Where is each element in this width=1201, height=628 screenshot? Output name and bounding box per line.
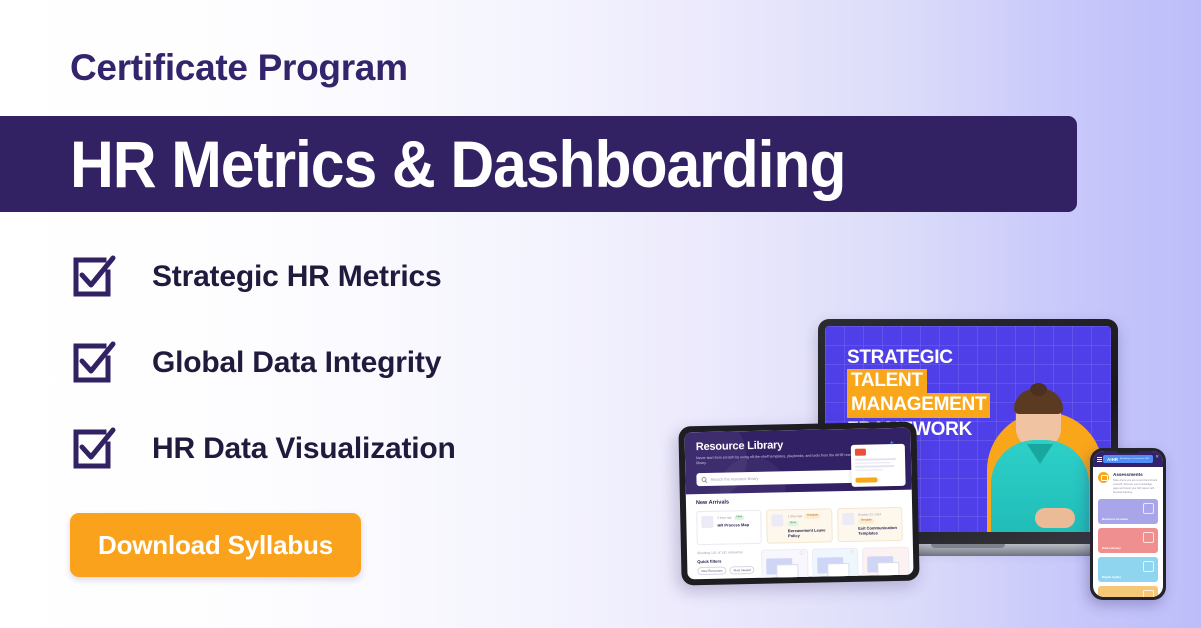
favorite-heart-icon[interactable]: ♡ <box>799 552 804 557</box>
domain-filter-heading: Filter by HR domain <box>698 578 762 580</box>
resource-card-list: 3 days ago New HR Process Map 1 days ago… <box>696 507 903 545</box>
search-icon <box>701 477 706 482</box>
document-thumbnail-icon <box>772 514 784 526</box>
card-timestamp: 1 days ago <box>788 514 803 518</box>
resource-card[interactable]: 1 days ago Template New Bereavement Leav… <box>766 508 832 544</box>
assessment-tile-digital-agility[interactable]: Digital Agility <box>1098 557 1158 582</box>
pdf-icon <box>855 449 866 456</box>
list-item: Strategic HR Metrics <box>70 253 590 301</box>
featured-resource-card[interactable] <box>851 444 906 487</box>
feature-list: Strategic HR Metrics Global Data Integri… <box>70 253 590 511</box>
tile-label: Data Literacy <box>1102 546 1121 550</box>
assessments-description: Take where you are at and benchmark your… <box>1113 479 1158 495</box>
quick-filters-heading: Quick filters <box>697 558 761 564</box>
tile-preview-strip <box>769 577 789 579</box>
download-syllabus-button[interactable]: Download Syllabus <box>70 513 361 577</box>
phone-mockup: AIHR Academy to Innovate HR ✕ Assessment… <box>1090 448 1166 600</box>
course-title-banner: HR Metrics & Dashboarding <box>0 116 1077 212</box>
list-item-label: Global Data Integrity <box>152 346 441 380</box>
result-count: Showing 141 of 141 resources <box>697 550 761 555</box>
presenter-hair-bun <box>1030 383 1047 396</box>
resource-tile[interactable]: ♡ <box>761 549 808 580</box>
status-badge: New <box>788 521 799 526</box>
people-icon <box>1143 590 1154 597</box>
slide-line-2: TALENT <box>847 369 927 393</box>
page-eyebrow-title: Certificate Program <box>70 47 408 89</box>
resource-card[interactable]: 3 days ago New HR Process Map <box>696 510 762 546</box>
document-thumbnail-icon <box>842 513 854 525</box>
laptop-hinge-notch <box>931 544 1005 548</box>
download-icon-button[interactable] <box>855 477 877 482</box>
card-title: HR Process Map <box>717 522 749 528</box>
resource-browse-area: Showing 141 of 141 resources Quick filte… <box>687 547 914 580</box>
tile-label: Digital Agility <box>1102 575 1121 579</box>
hamburger-menu-icon[interactable] <box>1097 457 1102 464</box>
section-heading: New Arrivals <box>696 496 902 506</box>
device-icon <box>1143 561 1154 572</box>
logo-subtext: Academy to Innovate HR <box>1120 458 1149 460</box>
resource-card[interactable]: October 23, 2024 Template Exit Communica… <box>837 507 903 543</box>
filter-chip-most-viewed[interactable]: Most Viewed <box>729 566 754 575</box>
tablet-screen: Resource Library Never start from scratc… <box>684 428 913 580</box>
type-badge: Template <box>804 513 820 518</box>
assessments-title: Assessments <box>1113 472 1158 477</box>
checkbox-checked-icon <box>70 254 118 300</box>
presenter-photo <box>961 326 1111 532</box>
tile-preview-front <box>878 562 900 576</box>
new-arrivals-section: New Arrivals 3 days ago New HR Process M… <box>686 489 913 545</box>
assessments-intro: Assessments Take where you are at and be… <box>1093 467 1163 499</box>
favorite-heart-icon[interactable]: ♡ <box>850 551 855 556</box>
resource-search-input[interactable]: Search the resource library <box>696 469 862 485</box>
status-badge: New <box>734 515 745 520</box>
list-item-label: HR Data Visualization <box>152 432 456 466</box>
page-title: HR Metrics & Dashboarding <box>70 131 845 197</box>
type-badge: Template <box>858 518 874 523</box>
text-placeholder-lines <box>855 458 901 471</box>
tile-label: Business Acumen <box>1102 517 1128 521</box>
device-mockup-cluster: STRATEGIC TALENT MANAGEMENT FRAMEWORK <box>660 300 1201 628</box>
assessment-tile-list: Business Acumen Data Literacy Digital Ag… <box>1093 499 1163 597</box>
resource-library-subtitle: Never start from scratch by using off-th… <box>696 453 866 467</box>
list-item-label: Strategic HR Metrics <box>152 260 441 294</box>
resource-library-hero: Resource Library Never start from scratc… <box>684 428 911 495</box>
search-placeholder: Search the resource library <box>710 476 758 482</box>
presenter-hands <box>1035 508 1075 528</box>
card-title: Bereavement Leave Policy <box>788 527 828 538</box>
checkbox-checked-icon <box>70 340 118 386</box>
tablet-mockup: Resource Library Never start from scratc… <box>678 422 919 586</box>
chart-screen-icon <box>1143 532 1154 543</box>
assessment-icon <box>1098 472 1109 483</box>
phone-screen: AIHR Academy to Innovate HR ✕ Assessment… <box>1093 451 1163 597</box>
filter-chip-new-resources[interactable]: New Resources <box>697 567 726 576</box>
resource-tile[interactable]: ♡ <box>812 548 859 580</box>
assessment-tile-business-acumen[interactable]: Business Acumen <box>1098 499 1158 524</box>
list-item: HR Data Visualization <box>70 425 590 473</box>
tile-preview-strip <box>819 576 839 579</box>
assessment-tile-people-advocacy[interactable]: People Advocacy <box>1098 586 1158 597</box>
card-timestamp: 3 days ago <box>717 516 732 520</box>
presenter-collar <box>1027 444 1053 464</box>
assessment-tile-data-literacy[interactable]: Data Literacy <box>1098 528 1158 553</box>
list-item: Global Data Integrity <box>70 339 590 387</box>
filter-sidebar: Showing 141 of 141 resources Quick filte… <box>687 550 762 580</box>
logo-text: AIHR <box>1107 457 1118 462</box>
close-icon[interactable]: ✕ <box>1155 455 1159 460</box>
plus-icon[interactable]: + <box>890 440 894 447</box>
phone-notch <box>1117 450 1139 453</box>
phone-app-header: AIHR Academy to Innovate HR ✕ <box>1093 451 1163 467</box>
lightbulb-icon <box>1143 503 1154 514</box>
card-title: Exit Communication Templates <box>858 525 898 536</box>
resource-tile[interactable] <box>862 547 909 580</box>
card-timestamp: October 23, 2024 <box>858 512 881 516</box>
aihr-logo: AIHR Academy to Innovate HR <box>1103 455 1153 463</box>
checkbox-checked-icon <box>70 426 118 472</box>
document-thumbnail-icon <box>701 516 713 528</box>
resource-tile-grid: ♡ ♡ <box>761 547 914 580</box>
